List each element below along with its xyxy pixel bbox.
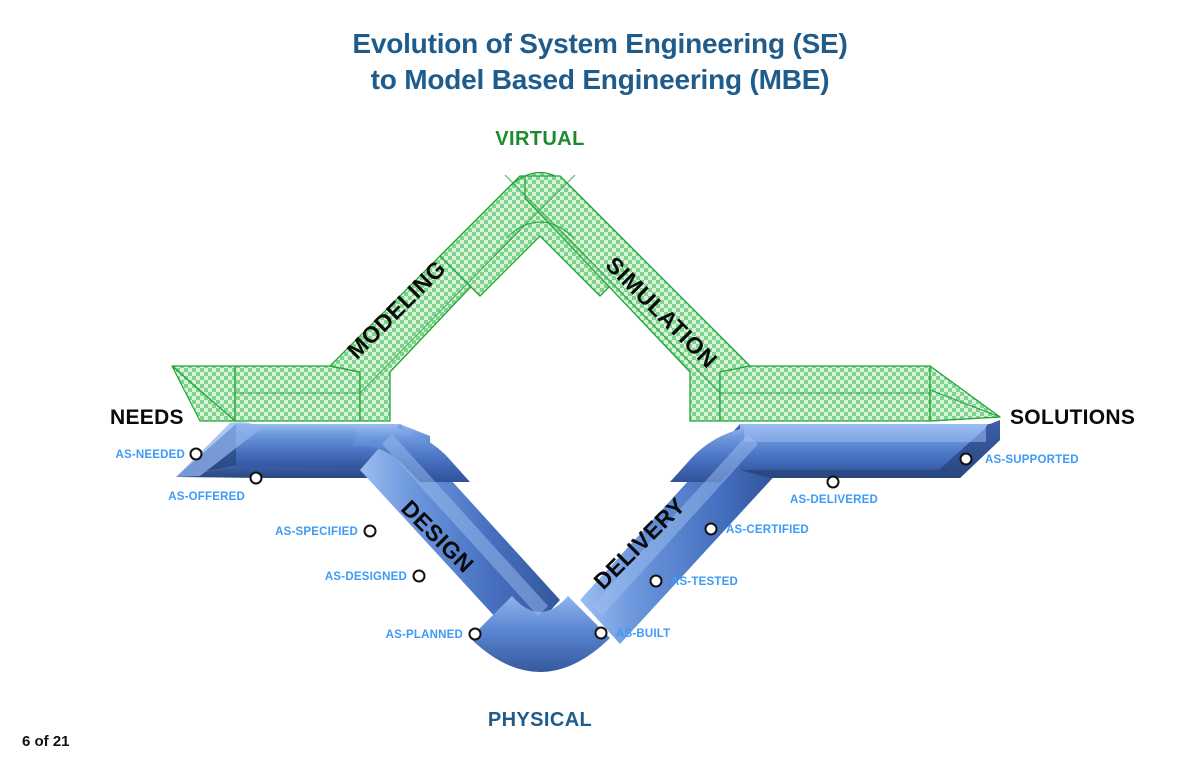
slide-canvas: Evolution of System Engineering (SE) to … [0,0,1200,771]
milestone-label: AS-TESTED [671,576,738,588]
layer-caption-physical: PHYSICAL [488,709,592,731]
band-label-simulation: SIMULATION [601,251,723,373]
milestone-marker[interactable] [414,571,425,582]
milestone-label: AS-DELIVERED [790,494,878,506]
milestone-label: AS-SPECIFIED [275,526,358,538]
milestone-label: AS-BUILT [616,628,670,640]
milestone-marker[interactable] [961,454,972,465]
physical-right-arm-highlight [744,426,986,442]
milestone-marker[interactable] [251,473,262,484]
milestone-marker[interactable] [651,576,662,587]
v-model-diagram: MODELING SIMULATION DESIGN DELIVERY VIRT… [0,0,1200,771]
milestone-label: AS-DESIGNED [325,571,407,583]
milestone-marker[interactable] [828,477,839,488]
milestone-marker[interactable] [706,524,717,535]
milestone-marker[interactable] [191,449,202,460]
physical-design-highlight [382,434,548,616]
milestone-label: AS-PLANNED [386,629,463,641]
milestone-marker[interactable] [365,526,376,537]
endpoint-label-needs: NEEDS [110,406,184,429]
milestone-label: AS-NEEDED [115,449,185,461]
milestone-label: AS-SUPPORTED [985,454,1079,466]
slide-page-indicator: 6 of 21 [22,733,70,750]
milestone-marker[interactable] [596,628,607,639]
milestone-label: AS-OFFERED [168,491,245,503]
milestone-marker[interactable] [470,629,481,640]
virtual-band-group [172,173,1000,422]
layer-caption-virtual: VIRTUAL [495,128,584,150]
physical-band-group [176,420,1000,672]
endpoint-label-solutions: SOLUTIONS [1010,406,1135,429]
milestone-label: AS-CERTIFIED [726,524,809,536]
